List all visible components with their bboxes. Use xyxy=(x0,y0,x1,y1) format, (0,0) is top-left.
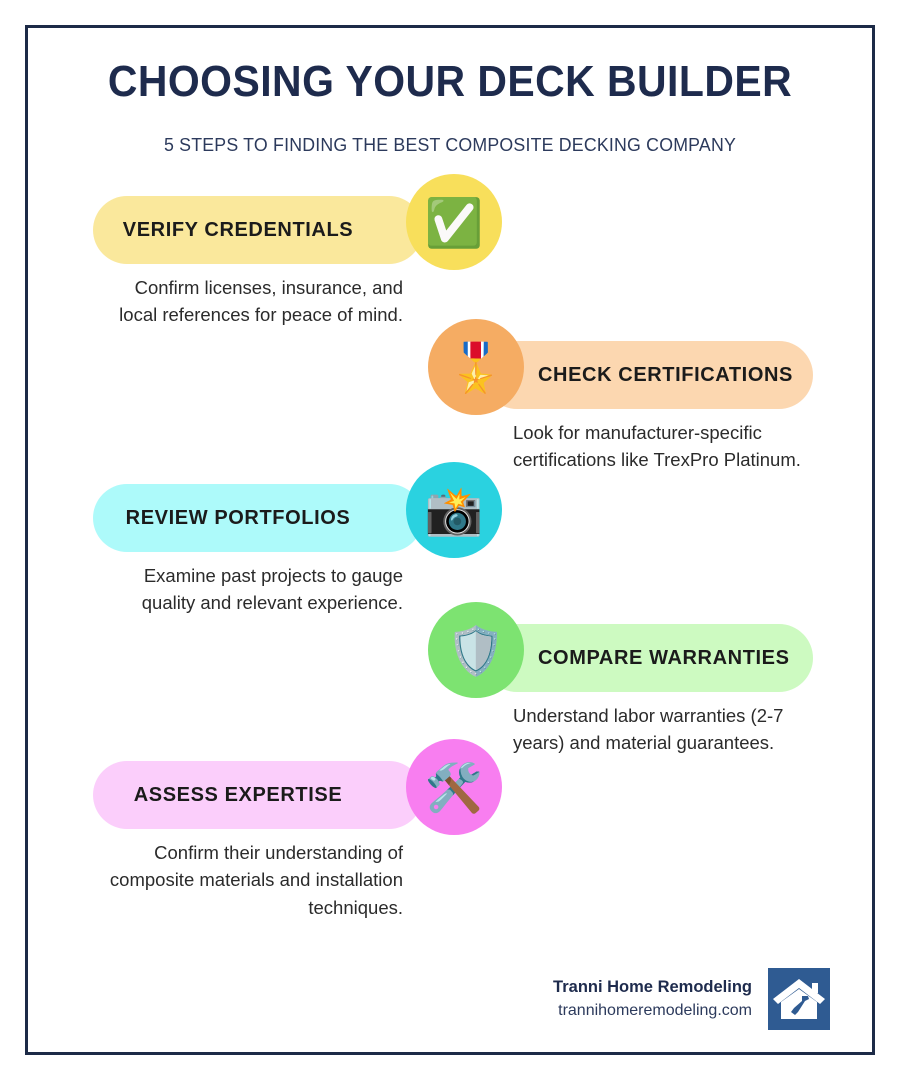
shield-icon: 🛡️ xyxy=(428,602,524,698)
page-frame-border: CHOOSING YOUR DECK BUILDER 5 STEPS TO FI… xyxy=(25,25,875,1055)
step-description: Confirm licenses, insurance, and local r… xyxy=(103,274,403,329)
step-description: Examine past projects to gauge quality a… xyxy=(103,562,403,617)
step-icon-glyph: 🛠️ xyxy=(425,764,484,811)
step-description: Look for manufacturer-specific certifica… xyxy=(513,419,813,474)
step-label: CHECK CERTIFICATIONS xyxy=(538,364,793,387)
brand-name: Tranni Home Remodeling xyxy=(553,975,752,1000)
step-label: VERIFY CREDENTIALS xyxy=(123,219,353,242)
step-icon-glyph: 🎖️ xyxy=(447,344,506,391)
infographic-page: CHOOSING YOUR DECK BUILDER 5 STEPS TO FI… xyxy=(0,0,900,1080)
step-label-pill[interactable]: ASSESS EXPERTISE xyxy=(93,761,423,829)
step-icon-glyph: 🛡️ xyxy=(447,627,506,674)
header: CHOOSING YOUR DECK BUILDER 5 STEPS TO FI… xyxy=(28,28,872,156)
footer: Tranni Home Remodeling trannihomeremodel… xyxy=(28,968,872,1030)
sports-medal-icon: 🎖️ xyxy=(428,319,524,415)
website-url[interactable]: trannihomeremodeling.com xyxy=(553,999,752,1023)
step-label-pill[interactable]: COMPARE WARRANTIES xyxy=(483,624,813,692)
step-label-pill[interactable]: VERIFY CREDENTIALS xyxy=(93,196,423,264)
step-label: ASSESS EXPERTISE xyxy=(134,784,343,807)
step-label-pill[interactable]: CHECK CERTIFICATIONS xyxy=(483,341,813,409)
step-icon-glyph: ✅ xyxy=(425,199,484,246)
camera-with-flash-icon: 📸 xyxy=(406,462,502,558)
step-description: Confirm their understanding of composite… xyxy=(103,839,403,921)
page-subtitle: 5 STEPS TO FINDING THE BEST COMPOSITE DE… xyxy=(45,106,855,156)
house-with-hammer-logo-icon xyxy=(768,968,830,1030)
step-label: REVIEW PORTFOLIOS xyxy=(126,507,351,530)
step-label: COMPARE WARRANTIES xyxy=(538,647,790,670)
footer-text-block: Tranni Home Remodeling trannihomeremodel… xyxy=(553,975,752,1024)
hammer-and-wrench-icon: 🛠️ xyxy=(406,739,502,835)
white-heavy-check-mark-icon: ✅ xyxy=(406,174,502,270)
step-description: Understand labor warranties (2-7 years) … xyxy=(513,702,813,757)
step-label-pill[interactable]: REVIEW PORTFOLIOS xyxy=(93,484,423,552)
step-icon-glyph: 📸 xyxy=(425,487,484,534)
page-title: CHOOSING YOUR DECK BUILDER xyxy=(58,58,843,106)
